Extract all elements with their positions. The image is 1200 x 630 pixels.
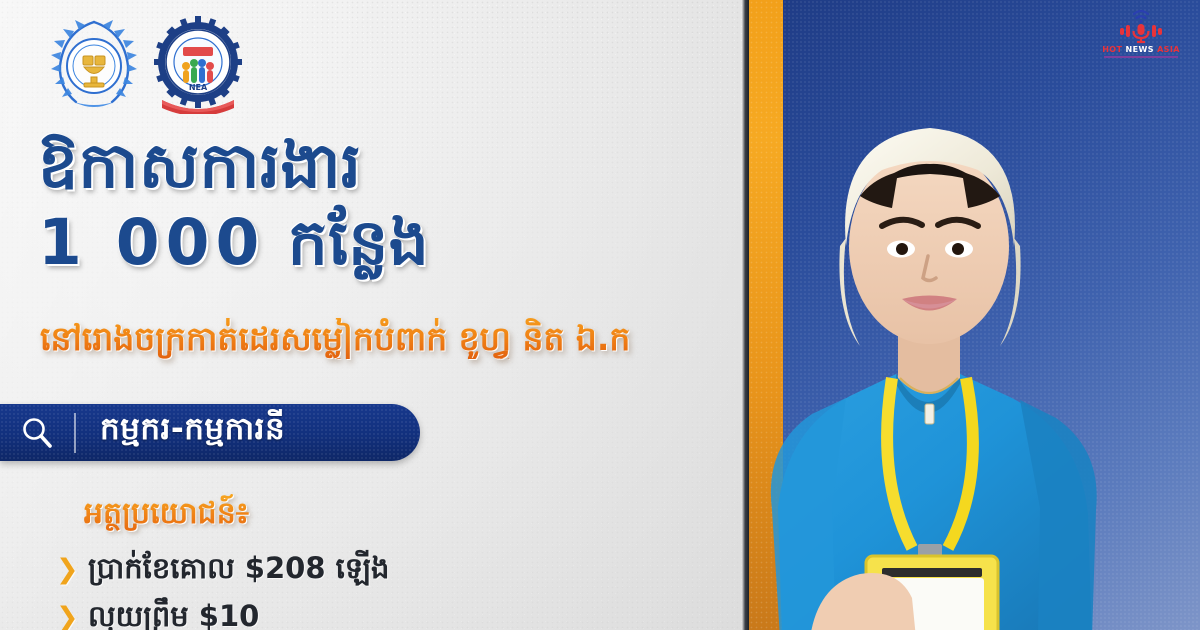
benefit-text-attendance: លុយព្រឹម $10 (88, 598, 259, 630)
logo-wordmark: HOT NEWS ASIA (1102, 45, 1180, 54)
chevron-right-icon: ❯ (56, 556, 88, 583)
logo-underline (1104, 56, 1178, 58)
svg-text:NEA: NEA (189, 83, 208, 92)
face (849, 148, 1009, 344)
benefit-item: ❯ ប្រាក់ខែគោល $208 ឡើង (84, 550, 684, 586)
headline-block: ឱកាសការងារ 1 000 កន្លែង (38, 134, 738, 274)
headline-line-2: 1 000 កន្លែង (38, 211, 738, 274)
chevron-right-icon: ❯ (56, 604, 88, 630)
benefit-item: ❯ លុយព្រឹម $10 (84, 598, 684, 630)
job-category-pill[interactable]: កម្មករ-កម្មការនី (0, 404, 420, 461)
subtitle-employer: នៅរោងចក្រកាត់ដេរសម្លៀកបំពាក់ ខូហ្វូ និត … (40, 318, 740, 359)
necklace-pendant (925, 404, 934, 424)
headline-line-1: ឱកាសការងារ (38, 134, 738, 197)
headline-position-unit: កន្លែង (288, 206, 429, 279)
microphone-broadcast-icon (1111, 6, 1171, 44)
job-category-label: កម្មករ-កម្មការនី (76, 410, 285, 455)
benefits-title: អត្ថប្រយោជន៍៖ (84, 494, 684, 538)
poster-canvas: NEA ឱកាសការងារ 1 000 កន្លែង នៅរោងចក្រកាត… (0, 0, 1200, 630)
worker-photo (660, 78, 1200, 630)
logo-word-hot: HOT (1102, 45, 1122, 54)
benefit-text-salary: ប្រាក់ខែគោល $208 ឡើង (88, 550, 389, 586)
logo-word-asia: ASIA (1157, 45, 1180, 54)
hot-news-asia-logo[interactable]: HOT NEWS ASIA (1098, 6, 1184, 64)
emblem-row: NEA (48, 14, 244, 114)
ministry-of-labour-emblem (48, 14, 140, 114)
search-icon (0, 415, 74, 451)
id-badge-slot (882, 568, 982, 577)
logo-word-news: NEWS (1126, 45, 1154, 54)
headline-position-count: 1 000 (38, 206, 265, 279)
national-employment-agency-emblem: NEA (152, 14, 244, 114)
benefits-block: អត្ថប្រយោជន៍៖ ❯ ប្រាក់ខែគោល $208 ឡើង ❯ ល… (84, 494, 684, 630)
